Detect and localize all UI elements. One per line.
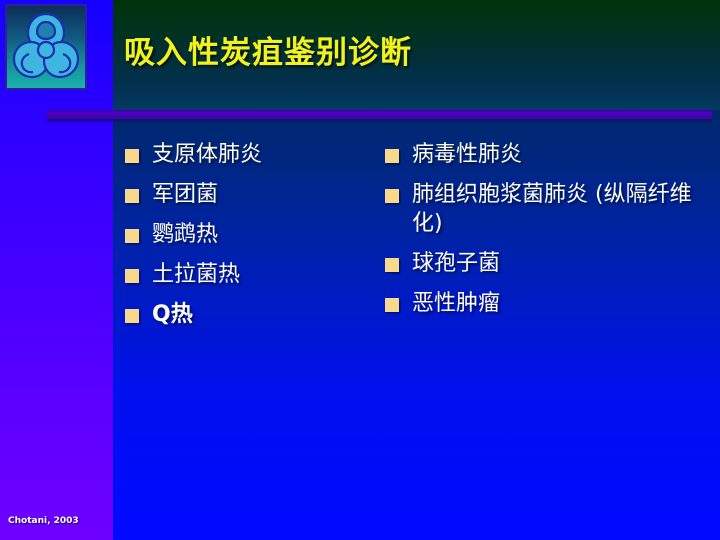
list-item-label: Q热 <box>152 300 383 329</box>
list-item-label: 军团菌 <box>152 180 383 209</box>
bullet-square-icon <box>385 149 399 163</box>
list-item: 肺组织胞浆菌肺炎 (纵隔纤维化) <box>385 180 711 238</box>
footer-credit: Chotani, 2003 <box>8 516 79 526</box>
list-item-label: 土拉菌热 <box>152 260 383 289</box>
list-item-label: 病毒性肺炎 <box>412 140 711 169</box>
list-item: 军团菌 <box>125 180 383 209</box>
bullet-square-icon <box>125 229 139 243</box>
list-item-label: 鹦鹉热 <box>152 220 383 249</box>
list-item: 恶性肿瘤 <box>385 289 711 318</box>
bullet-square-icon <box>385 258 399 272</box>
list-item: 支原体肺炎 <box>125 140 383 169</box>
slide-canvas: 吸入性炭疽鉴别诊断 支原体肺炎 军团菌 鹦鹉热 土拉菌热 Q热 <box>0 0 720 540</box>
list-item: 球孢子菌 <box>385 249 711 278</box>
list-item: Q热 <box>125 300 383 329</box>
bullet-square-icon <box>385 189 399 203</box>
header-divider-shadow <box>47 119 712 122</box>
list-item-label: 恶性肿瘤 <box>412 289 711 318</box>
list-item: 土拉菌热 <box>125 260 383 289</box>
page-title: 吸入性炭疽鉴别诊断 <box>124 36 704 72</box>
bullet-square-icon <box>125 309 139 323</box>
list-item-label: 球孢子菌 <box>412 249 711 278</box>
list-item: 病毒性肺炎 <box>385 140 711 169</box>
bullet-list-right: 病毒性肺炎 肺组织胞浆菌肺炎 (纵隔纤维化) 球孢子菌 恶性肿瘤 <box>385 140 711 329</box>
list-item-label: 肺组织胞浆菌肺炎 (纵隔纤维化) <box>412 180 711 238</box>
bullet-square-icon <box>125 269 139 283</box>
header-divider-rule <box>47 110 712 119</box>
slide-body: 支原体肺炎 军团菌 鹦鹉热 土拉菌热 Q热 病毒性肺炎 <box>113 140 720 490</box>
bullet-square-icon <box>125 189 139 203</box>
list-item: 鹦鹉热 <box>125 220 383 249</box>
biohazard-icon <box>5 4 87 90</box>
bullet-square-icon <box>125 149 139 163</box>
bullet-square-icon <box>385 298 399 312</box>
bullet-list-left: 支原体肺炎 军团菌 鹦鹉热 土拉菌热 Q热 <box>125 140 383 340</box>
list-item-label: 支原体肺炎 <box>152 140 383 169</box>
